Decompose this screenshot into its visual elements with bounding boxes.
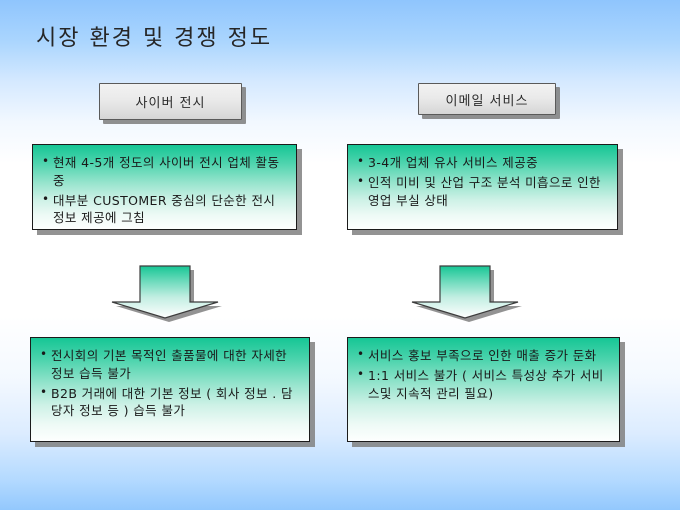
header-box-label: 사이버 전시 <box>136 92 206 111</box>
list-item: 대부분 CUSTOMER 중심의 단순한 전시 정보 제공에 그침 <box>42 192 286 228</box>
down-arrow-icon <box>105 262 225 322</box>
bullet-list: 서비스 홍보 부족으로 인한 매출 증가 둔화 1:1 서비스 불가 ( 서비스… <box>357 347 609 402</box>
content-box-cyber-exhibition-issues: 전시회의 기본 목적인 출품물에 대한 자세한 정보 습득 불가 B2B 거래에… <box>30 337 310 442</box>
bullet-list: 3-4개 업체 유사 서비스 제공중 인적 미비 및 산업 구조 분석 미흡으로… <box>357 154 607 209</box>
list-item: 3-4개 업체 유사 서비스 제공중 <box>357 154 607 172</box>
list-item: 전시회의 기본 목적인 출품물에 대한 자세한 정보 습득 불가 <box>40 347 299 383</box>
content-box-cyber-exhibition-current: 현재 4-5개 정도의 사이버 전시 업체 활동중 대부분 CUSTOMER 중… <box>32 144 297 230</box>
header-box-label: 이메일 서비스 <box>446 90 529 109</box>
content-box-email-service-issues: 서비스 홍보 부족으로 인한 매출 증가 둔화 1:1 서비스 불가 ( 서비스… <box>347 337 620 442</box>
down-arrow-icon <box>405 262 525 322</box>
list-item: B2B 거래에 대한 기본 정보 ( 회사 정보 . 담당자 정보 등 ) 습득… <box>40 385 299 421</box>
bullet-list: 전시회의 기본 목적인 출품물에 대한 자세한 정보 습득 불가 B2B 거래에… <box>40 347 299 420</box>
bullet-list: 현재 4-5개 정도의 사이버 전시 업체 활동중 대부분 CUSTOMER 중… <box>42 154 286 227</box>
header-box-cyber-exhibition[interactable]: 사이버 전시 <box>99 83 242 120</box>
list-item: 인적 미비 및 산업 구조 분석 미흡으로 인한 영업 부실 상태 <box>357 174 607 210</box>
slide-canvas: 시장 환경 및 경쟁 정도 사이버 전시 이메일 서비스 현재 4-5개 정도의… <box>0 0 680 510</box>
list-item: 현재 4-5개 정도의 사이버 전시 업체 활동중 <box>42 154 286 190</box>
list-item: 1:1 서비스 불가 ( 서비스 특성상 추가 서비스및 지속적 관리 필요) <box>357 367 609 403</box>
list-item: 서비스 홍보 부족으로 인한 매출 증가 둔화 <box>357 347 609 365</box>
header-box-email-service[interactable]: 이메일 서비스 <box>418 83 556 115</box>
page-title: 시장 환경 및 경쟁 정도 <box>36 20 272 52</box>
content-box-email-service-current: 3-4개 업체 유사 서비스 제공중 인적 미비 및 산업 구조 분석 미흡으로… <box>347 144 618 230</box>
